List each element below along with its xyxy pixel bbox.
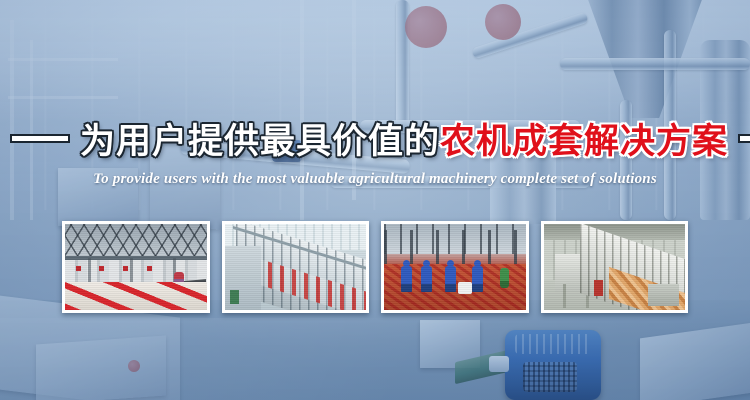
thumbnail-strip <box>62 221 688 313</box>
roof-truss <box>65 224 207 258</box>
product-sack <box>458 282 472 294</box>
scene-inclined-conveyor <box>225 224 367 310</box>
worker-figure <box>401 266 412 292</box>
background-photo <box>0 0 750 400</box>
hero-banner: 为用户提供最具价值的农机成套解决方案 To provide users with… <box>0 0 750 400</box>
thumbnail-chili-drying-workers[interactable] <box>381 221 529 313</box>
support-post <box>88 258 91 284</box>
thumbnail-onion-elevator-conveyor[interactable] <box>541 221 689 313</box>
thumbnail-noodle-production-line[interactable] <box>62 221 210 313</box>
thumbnail-image <box>225 224 367 310</box>
machine-indicator <box>147 266 152 271</box>
right-rule-decoration <box>738 134 750 143</box>
worker-figure <box>421 266 432 292</box>
thumbnail-image <box>544 224 686 310</box>
red-control-panel <box>594 280 603 296</box>
machine-row <box>65 260 207 282</box>
support-leg <box>563 284 566 308</box>
support-post <box>130 258 133 284</box>
thumbnail-image <box>65 224 207 310</box>
machine-indicator <box>123 266 128 271</box>
subtitle: To provide users with the most valuable … <box>0 171 750 188</box>
machine-indicator <box>99 266 104 271</box>
green-equipment <box>230 290 239 304</box>
thumbnail-inclined-stainless-conveyor[interactable] <box>222 221 370 313</box>
product-trays <box>65 282 207 310</box>
worker-figure <box>445 266 456 292</box>
collection-bin <box>648 284 679 306</box>
photo-vignette <box>0 0 750 400</box>
scene-noodle-line <box>65 224 207 310</box>
headline-row: 为用户提供最具价值的农机成套解决方案 <box>0 124 750 159</box>
headline-prefix: 为用户提供最具价值的 <box>80 122 440 161</box>
worker-figure-green <box>500 268 509 288</box>
headline-highlight: 农机成套解决方案 <box>440 122 728 161</box>
thumbnail-image <box>384 224 526 310</box>
scene-onion-elevator <box>544 224 686 310</box>
left-rule-decoration <box>10 134 70 143</box>
scene-chili-drying <box>384 224 526 310</box>
machine-indicator <box>76 266 81 271</box>
page-title: 为用户提供最具价值的农机成套解决方案 <box>80 124 728 159</box>
worker-figure <box>472 266 483 292</box>
